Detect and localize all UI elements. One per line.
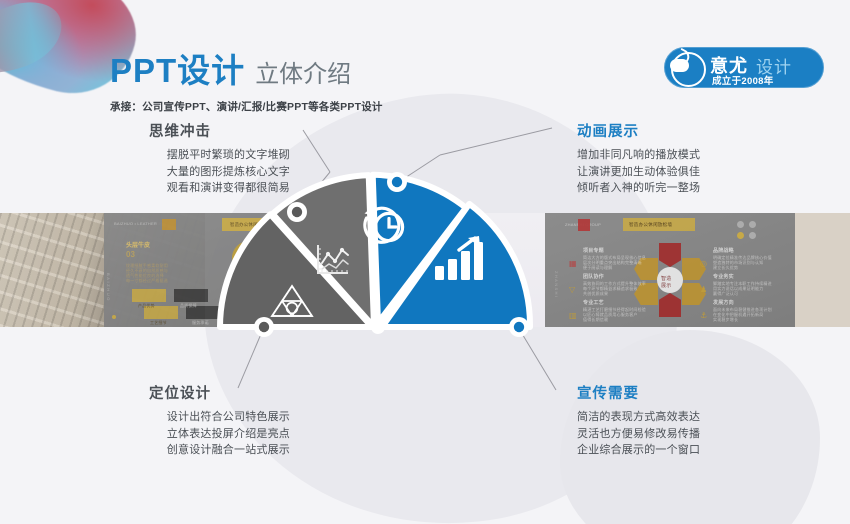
callout-title: 思维冲击 xyxy=(80,120,290,141)
tagline: 承接：公司宣传PPT、演讲/汇报/比赛PPT等各类PPT设计 xyxy=(110,99,383,114)
callout-body: 简洁的表现方式高效表达 灵活也方便易修改易传播 企业综合展示的一个窗口 xyxy=(577,409,787,459)
node-grey-upper[interactable] xyxy=(287,202,307,222)
connector-line-top-right-b xyxy=(440,128,552,155)
callout-line: 倾听者入神的听完一整场 xyxy=(577,180,787,197)
callout-ding-wei-she-ji: 定位设计 设计出符合公司特色展示 立体表达投屏介绍是亮点 创意设计融合一站式展示 xyxy=(80,382,290,459)
callout-body: 增加非同凡响的播放模式 让演讲更加生动体验俱佳 倾听者入神的听完一整场 xyxy=(577,147,787,197)
callout-xuan-chuan-xu-yao: 宣传需要 简洁的表现方式高效表达 灵活也方便易修改易传播 企业综合展示的一个窗口 xyxy=(577,382,787,459)
node-grey-lower[interactable] xyxy=(254,317,274,337)
callout-title: 宣传需要 xyxy=(577,382,787,403)
callout-line: 创意设计融合一站式展示 xyxy=(80,442,290,459)
brand-logo[interactable]: 意尤 设计 成立于2008年 xyxy=(664,47,824,88)
page-title: PPT设计立体介绍 承接：公司宣传PPT、演讲/汇报/比赛PPT等各类PPT设计 xyxy=(110,44,383,114)
title-main: PPT设计 xyxy=(110,44,245,92)
callout-dong-hua-zhan-shi: 动画展示 增加非同凡响的播放模式 让演讲更加生动体验俱佳 倾听者入神的听完一整场 xyxy=(577,120,787,197)
callout-line: 观看和演讲变得都很简易 xyxy=(80,180,290,197)
callout-body: 设计出符合公司特色展示 立体表达投屏介绍是亮点 创意设计融合一站式展示 xyxy=(80,409,290,459)
callout-title: 动画展示 xyxy=(577,120,787,141)
callout-line: 简洁的表现方式高效表达 xyxy=(577,409,787,426)
callout-line: 企业综合展示的一个窗口 xyxy=(577,442,787,459)
callout-line: 摆脱平时繁琐的文字堆砌 xyxy=(80,147,290,164)
logo-established: 成立于2008年 xyxy=(712,73,774,87)
node-blue-lower[interactable] xyxy=(509,317,529,337)
callout-title: 定位设计 xyxy=(80,382,290,403)
slide-canvas: BAIZHUO • LEATHER 智造办公休闲放松墙 头层牛皮 03 纹理细腻… xyxy=(0,0,850,524)
callout-si-wei-chong-ji: 思维冲击 摆脱平时繁琐的文字堆砌 大量的图形提炼核心文字 观看和演讲变得都很简易 xyxy=(80,120,290,197)
title-sub: 立体介绍 xyxy=(255,54,351,89)
callout-line: 让演讲更加生动体验俱佳 xyxy=(577,164,787,181)
callout-line: 增加非同凡响的播放模式 xyxy=(577,147,787,164)
callout-line: 立体表达投屏介绍是亮点 xyxy=(80,426,290,443)
node-blue-upper[interactable] xyxy=(387,172,407,192)
callout-line: 设计出符合公司特色展示 xyxy=(80,409,290,426)
connector-line-bottom-right xyxy=(518,327,556,390)
callout-body: 摆脱平时繁琐的文字堆砌 大量的图形提炼核心文字 观看和演讲变得都很简易 xyxy=(80,147,290,197)
callout-line: 大量的图形提炼核心文字 xyxy=(80,164,290,181)
connector-line-top-left-b xyxy=(303,130,330,172)
node-center xyxy=(371,320,385,334)
callout-line: 灵活也方便易修改易传播 xyxy=(577,426,787,443)
